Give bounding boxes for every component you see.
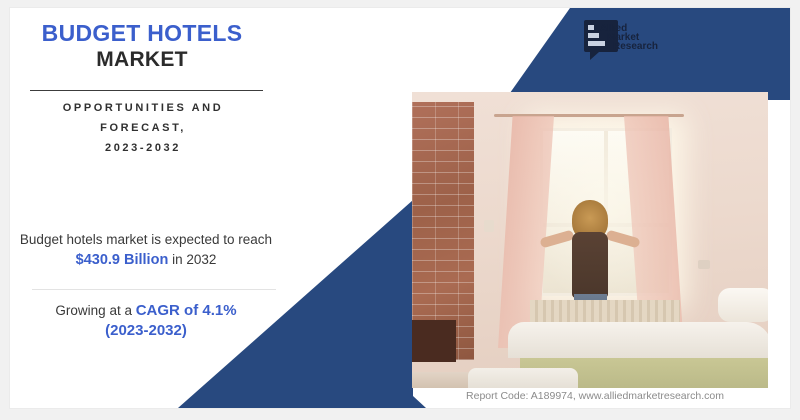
subtitle-line-3: 2023-2032 xyxy=(18,138,268,158)
allied-market-research-logo[interactable]: Allied Market Research xyxy=(582,18,678,62)
market-size-value: $430.9 Billion xyxy=(76,252,169,268)
report-footer: Report Code: A189974, www.alliedmarketre… xyxy=(410,390,780,402)
photo-bed-sheet xyxy=(508,322,768,358)
subtitle-line-1: OPPORTUNITIES AND xyxy=(18,98,268,118)
title-line-1: BUDGET HOTELS xyxy=(20,20,264,46)
market-size-prefix: Budget hotels market is expected to reac… xyxy=(20,232,272,247)
report-subtitle: OPPORTUNITIES AND FORECAST, 2023-2032 xyxy=(18,98,268,158)
photo-brick-alcove xyxy=(412,320,456,362)
cagr-stat: Growing at a CAGR of 4.1% (2023-2032) xyxy=(18,301,274,341)
photo-second-bed xyxy=(468,368,578,388)
hotel-room-photo xyxy=(412,92,768,388)
cagr-value: CAGR of 4.1% xyxy=(136,302,237,319)
photo-pillow xyxy=(718,288,768,322)
photo-wall-outlet xyxy=(698,260,710,269)
subtitle-line-2: FORECAST, xyxy=(18,118,268,138)
page-title: BUDGET HOTELS MARKET xyxy=(20,20,264,73)
report-card: Allied Market Research xyxy=(10,8,790,408)
photo-person-torso xyxy=(572,232,608,298)
market-size-stat: Budget hotels market is expected to reac… xyxy=(18,230,274,270)
cagr-prefix: Growing at a xyxy=(55,303,135,318)
market-size-suffix: in 2032 xyxy=(168,252,216,267)
photo-light-switch xyxy=(484,220,494,232)
stat-divider xyxy=(32,289,276,290)
title-line-2: MARKET xyxy=(20,47,264,73)
logo-text-line3: Research xyxy=(613,41,658,52)
cagr-period: (2023-2032) xyxy=(18,321,274,341)
title-divider xyxy=(30,90,263,91)
infographic-canvas: Allied Market Research xyxy=(0,0,800,420)
